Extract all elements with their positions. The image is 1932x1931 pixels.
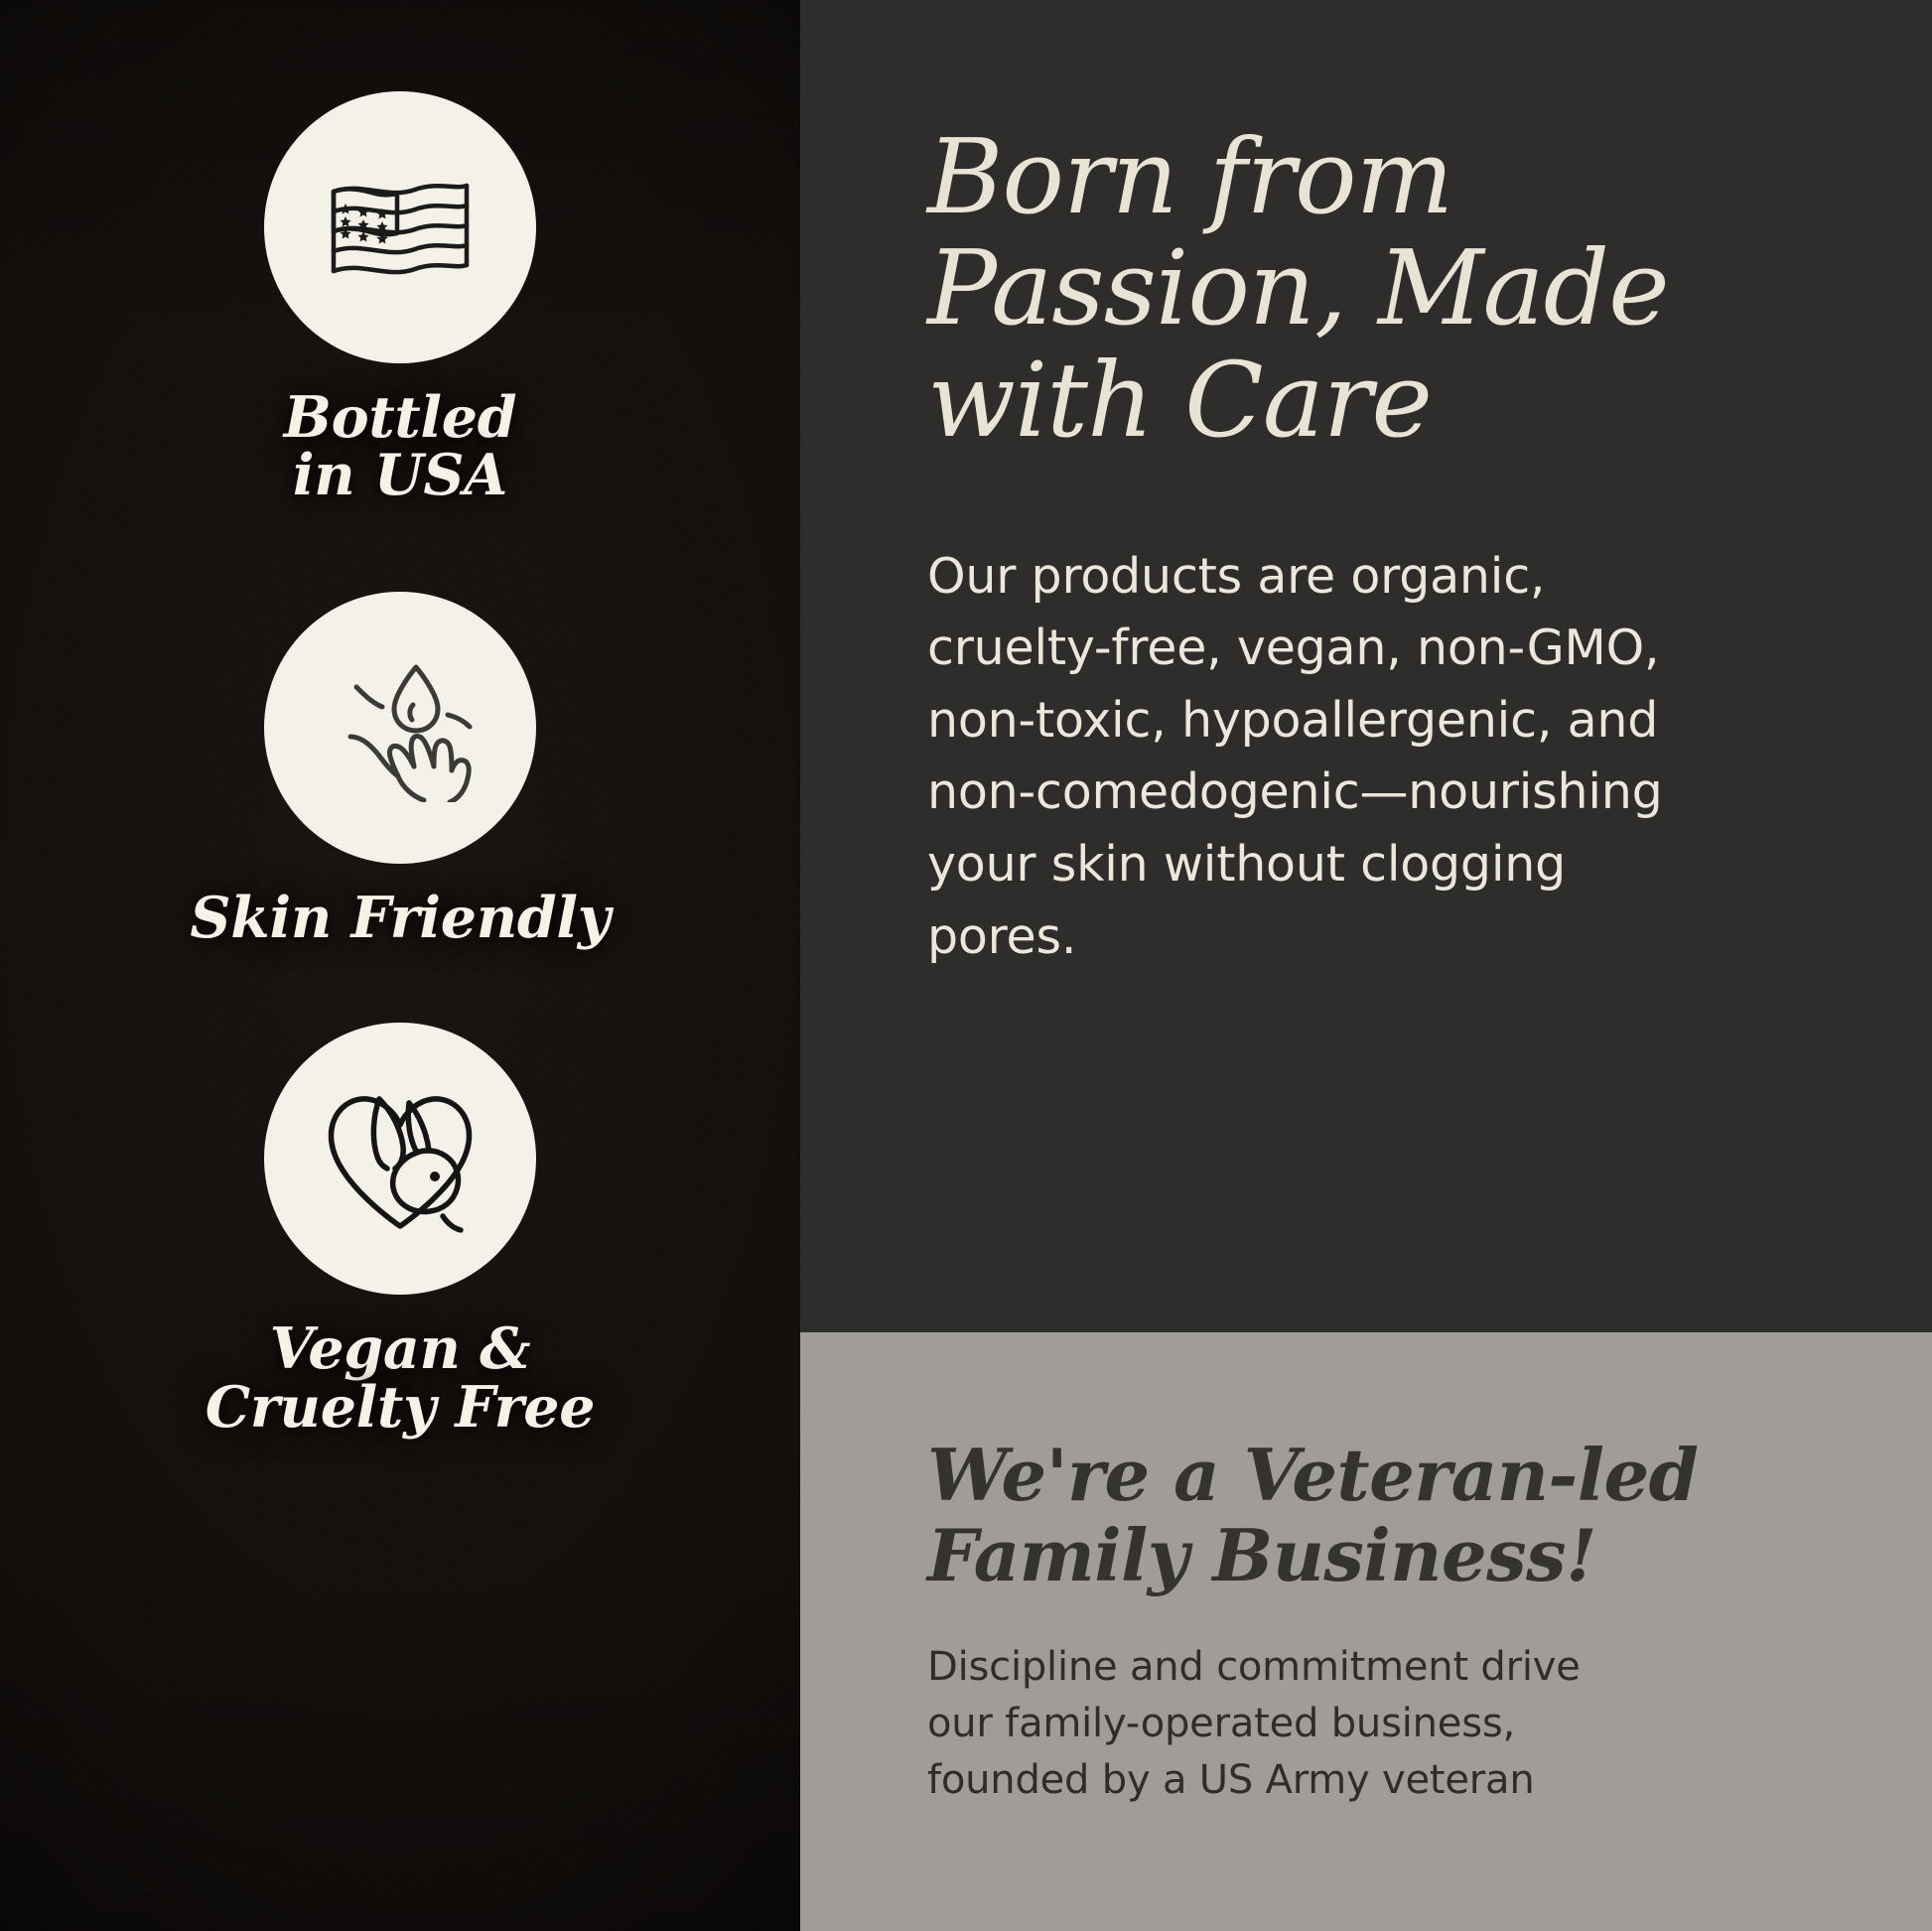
badge-vegan-cruelty-free: Vegan & Cruelty Free bbox=[206, 1023, 595, 1436]
badge-label: Vegan & Cruelty Free bbox=[206, 1320, 595, 1436]
badge-label: Bottled in USA bbox=[284, 389, 517, 504]
badge-circle bbox=[264, 1023, 536, 1295]
infographic-page: Bottled in USA bbox=[0, 0, 1932, 1931]
gray-panel: We're a Veteran-led Family Business! Dis… bbox=[800, 1332, 1932, 1931]
dark-panel-body: Our products are organic, cruelty-free, … bbox=[927, 541, 1682, 973]
usa-flag-icon bbox=[326, 168, 475, 287]
badge-list: Bottled in USA bbox=[0, 0, 800, 1931]
dark-panel: Born from Passion, Made with Care Our pr… bbox=[800, 0, 1932, 1332]
gray-panel-body: Discipline and commitment drive our fami… bbox=[927, 1639, 1642, 1808]
bunny-eye-icon bbox=[430, 1172, 440, 1181]
left-image-column: Bottled in USA bbox=[0, 0, 800, 1931]
bunny-heart-icon bbox=[318, 1081, 483, 1236]
badge-skin-friendly: Skin Friendly bbox=[190, 592, 610, 947]
page-title: Born from Passion, Made with Care bbox=[927, 121, 1793, 456]
section-subtitle: We're a Veteran-led Family Business! bbox=[927, 1436, 1783, 1595]
hand-droplet-icon bbox=[321, 653, 480, 802]
badge-label: Skin Friendly bbox=[190, 890, 610, 947]
right-content-column: Born from Passion, Made with Care Our pr… bbox=[800, 0, 1932, 1931]
badge-bottled-in-usa: Bottled in USA bbox=[264, 91, 536, 504]
badge-circle bbox=[264, 592, 536, 864]
badge-circle bbox=[264, 91, 536, 363]
